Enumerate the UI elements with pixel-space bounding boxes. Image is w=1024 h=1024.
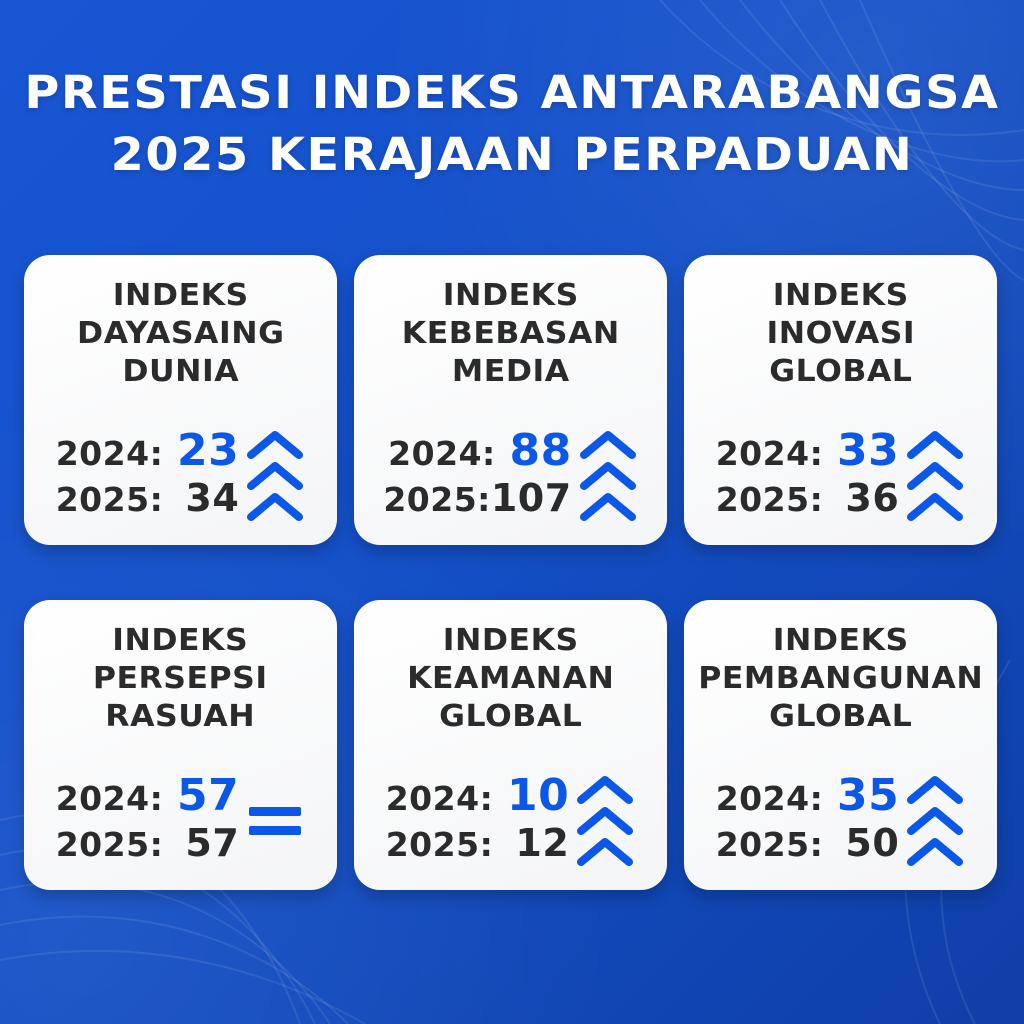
card-title-line: DAYASAING [77,315,284,353]
card-title-line: GLOBAL [766,353,915,391]
card-body: 2024: 88 2025: 107 [368,429,653,527]
card-body: 2024: 35 2025: 50 [698,774,983,872]
year-label-prev: 2024: [716,433,824,475]
card-title-line: PERSEPSI [93,660,268,698]
card-body: 2024: 57 2025: 57 [38,775,323,872]
row-2025: 2025: 57 [56,822,240,866]
card-title: INDEKS PERSEPSI RASUAH [93,622,268,736]
value-rows: 2024: 10 2025: 12 [386,775,570,866]
trend-up-icon [905,774,965,866]
row-2025: 2025: 36 [716,477,900,521]
card-title: INDEKS KEAMANAN GLOBAL [407,622,614,736]
card-title-line: INOVASI [766,315,915,353]
index-card-keamanan-global[interactable]: INDEKS KEAMANAN GLOBAL 2024: 10 2025: 12 [354,600,667,890]
year-label-curr: 2025: [383,479,491,521]
page-title: PRESTASI INDEKS ANTARABANGSA 2025 KERAJA… [0,62,1024,186]
row-2025: 2025: 107 [383,477,571,521]
card-title: INDEKS PEMBANGUNAN GLOBAL [698,622,983,736]
card-title-line: GLOBAL [407,698,614,736]
card-body: 2024: 33 2025: 36 [698,429,983,527]
trend-up-icon [245,429,305,521]
card-body: 2024: 10 2025: 12 [368,774,653,872]
year-label-prev: 2024: [716,778,824,820]
value-2025: 57 [163,822,239,864]
index-card-kebebasan-media[interactable]: INDEKS KEBEBASAN MEDIA 2024: 88 2025: 10… [354,255,667,545]
card-title-line: RASUAH [93,698,268,736]
card-title-line: INDEKS [401,277,619,315]
year-label-prev: 2024: [388,433,496,475]
value-2024: 57 [163,775,239,817]
card-title-line: INDEKS [698,622,983,660]
year-label-curr: 2025: [716,824,824,866]
year-label-prev: 2024: [56,433,164,475]
row-2024: 2024: 10 [386,775,570,820]
year-label-prev: 2024: [56,778,164,820]
card-title: INDEKS INOVASI GLOBAL [766,277,915,391]
year-label-curr: 2025: [56,479,164,521]
card-title-line: MEDIA [401,353,619,391]
title-line-1: PRESTASI INDEKS ANTARABANGSA [0,62,1024,124]
index-card-grid: INDEKS DAYASAING DUNIA 2024: 23 2025: 34 [24,255,1000,890]
trend-equal-icon [245,807,305,835]
value-rows: 2024: 35 2025: 50 [716,775,900,866]
row-2024: 2024: 23 [56,430,240,475]
value-2025: 12 [493,822,569,864]
value-2024: 10 [493,775,569,817]
value-2024: 23 [163,430,239,472]
trend-up-icon [575,774,635,866]
value-2024: 33 [823,430,899,472]
equal-bar-bottom [249,826,301,835]
card-title-line: PEMBANGUNAN [698,660,983,698]
row-2024: 2024: 33 [716,430,900,475]
index-card-pembangunan-global[interactable]: INDEKS PEMBANGUNAN GLOBAL 2024: 35 2025:… [684,600,997,890]
year-label-curr: 2025: [56,824,164,866]
index-card-inovasi-global[interactable]: INDEKS INOVASI GLOBAL 2024: 33 2025: 36 [684,255,997,545]
value-rows: 2024: 23 2025: 34 [56,430,240,521]
year-label-prev: 2024: [386,778,494,820]
value-2025: 34 [163,477,239,519]
card-body: 2024: 23 2025: 34 [38,429,323,527]
row-2025: 2025: 12 [386,822,570,866]
row-2024: 2024: 88 [383,430,571,475]
card-title-line: INDEKS [77,277,284,315]
card-title: INDEKS KEBEBASAN MEDIA [401,277,619,391]
card-title-line: INDEKS [766,277,915,315]
index-card-persepsi-rasuah[interactable]: INDEKS PERSEPSI RASUAH 2024: 57 2025: 57 [24,600,337,890]
trend-up-icon [905,429,965,521]
value-2025: 107 [491,477,572,519]
row-2025: 2025: 34 [56,477,240,521]
card-title-line: INDEKS [407,622,614,660]
card-title-line: KEBEBASAN [401,315,619,353]
value-2025: 36 [823,477,899,519]
value-rows: 2024: 33 2025: 36 [716,430,900,521]
row-2024: 2024: 35 [716,775,900,820]
row-2024: 2024: 57 [56,775,240,820]
equal-bar-top [249,807,301,816]
title-line-2: 2025 KERAJAAN PERPADUAN [0,124,1024,186]
card-title-line: KEAMANAN [407,660,614,698]
value-2025: 50 [823,822,899,864]
value-rows: 2024: 57 2025: 57 [56,775,240,866]
row-2025: 2025: 50 [716,822,900,866]
value-rows: 2024: 88 2025: 107 [383,430,571,521]
year-label-curr: 2025: [716,479,824,521]
value-2024: 88 [496,430,572,472]
card-title-line: GLOBAL [698,698,983,736]
card-title-line: DUNIA [77,353,284,391]
trend-up-icon [578,429,638,521]
year-label-curr: 2025: [386,824,494,866]
card-title: INDEKS DAYASAING DUNIA [77,277,284,391]
index-card-dayasaing-dunia[interactable]: INDEKS DAYASAING DUNIA 2024: 23 2025: 34 [24,255,337,545]
card-title-line: INDEKS [93,622,268,660]
value-2024: 35 [823,775,899,817]
